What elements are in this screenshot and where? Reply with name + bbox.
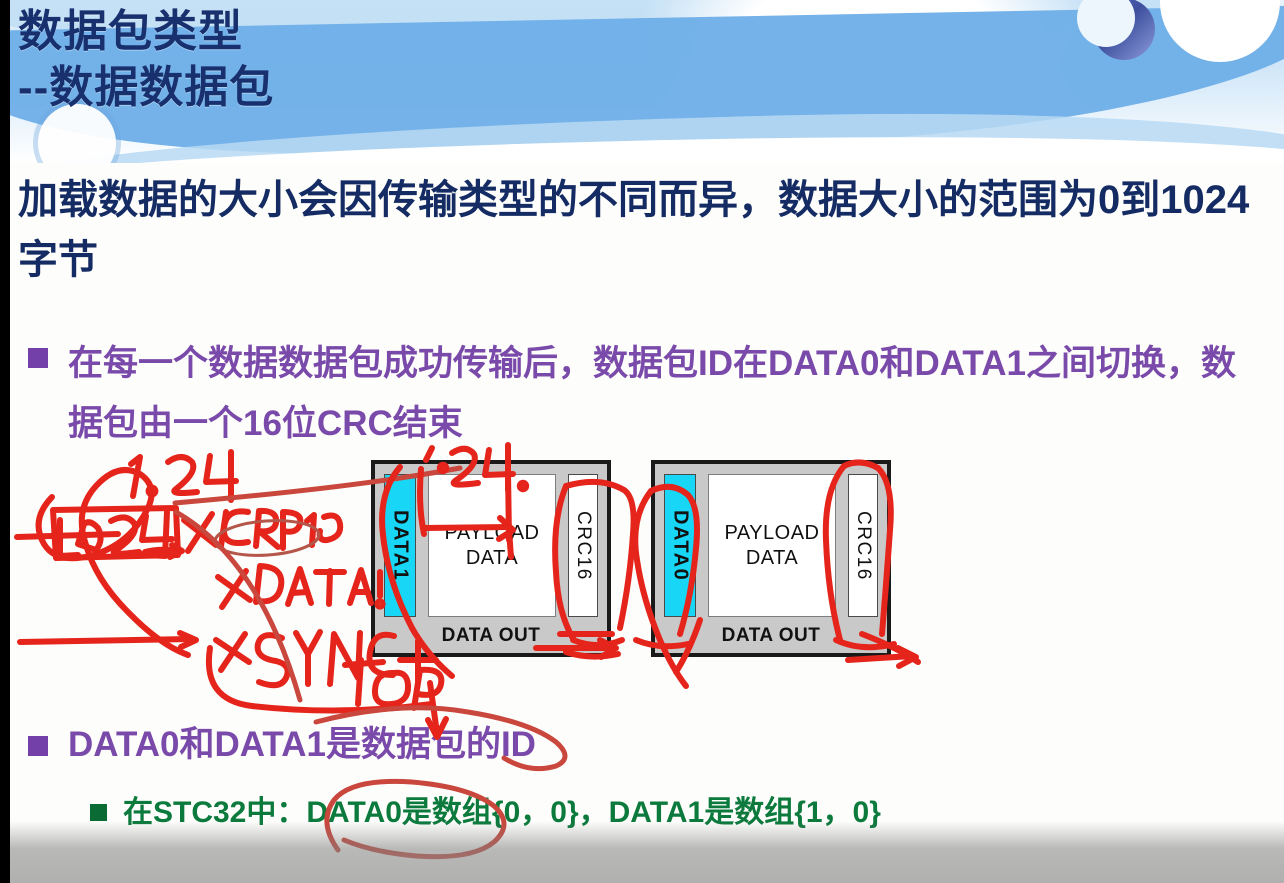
packet-payload-label: PAYLOAD DATA [429,521,555,571]
square-bullet-icon [28,348,48,368]
note-arrow-to-crc-ink [145,545,182,557]
page-title: 数据包类型 --数据数据包 [18,4,274,116]
slide-root: 数据包类型 --数据数据包 加载数据的大小会因传输类型的不同而异，数据大小的范围… [0,0,1284,883]
square-bullet-icon [28,736,48,756]
packet-payload-label: PAYLOAD DATA [709,521,835,571]
packet-crc-label: CRC16 [572,511,594,581]
packet-footer: DATA OUT [655,619,887,653]
packet-crc-field: CRC16 [848,474,878,617]
bullet-item-label: 在每一个数据数据包成功传输后，数据包ID在DATA0和DATA1之间切换，数据包… [68,334,1268,454]
packet-payload-field: PAYLOAD DATA [428,474,556,617]
packet-footer-label: DATA OUT [442,625,541,647]
packet-diagram-row: DATA0 PAYLOAD DATA CRC16 [655,464,887,619]
lead-paragraph: 加载数据的大小会因传输类型的不同而异，数据大小的范围为0到1024字节 [18,170,1268,290]
packet-payload-field: PAYLOAD DATA [708,474,836,617]
packet-footer: DATA OUT [375,619,607,653]
packet-diagram-data1: DATA1 PAYLOAD DATA CRC16 DATA OUT [371,460,611,657]
note-eop-ink [345,660,441,708]
bullet-item-packet-id: 在每一个数据数据包成功传输后，数据包ID在DATA0和DATA1之间切换，数据包… [28,334,1268,454]
note-crc16-ink [184,511,340,551]
note-strikes-ink [17,534,196,647]
packet-id-label: DATA1 [389,510,412,581]
note-1024-top-ink [131,452,236,500]
note-data-ink [218,566,383,607]
page-title-line-2: --数据数据包 [18,60,274,116]
bottom-gradient-overlay [0,821,1284,883]
packet-id-label: DATA0 [669,510,692,581]
note-crc-loop-ink [214,517,320,558]
letterbox-left-bar [0,0,10,883]
page-title-line-1: 数据包类型 [18,4,274,60]
bullet-item-label: DATA0和DATA1是数据包的ID [68,722,536,768]
packet-crc-label: CRC16 [852,511,874,581]
packet-id-field: DATA0 [664,474,696,617]
packet-diagram-row: DATA1 PAYLOAD DATA CRC16 [375,464,607,619]
bullet-item-data-ids: DATA0和DATA1是数据包的ID [28,722,1268,768]
note-1024-boxed-ink [53,508,178,558]
packet-crc-field: CRC16 [568,474,598,617]
packet-diagram-data0: DATA0 PAYLOAD DATA CRC16 DATA OUT [651,460,891,657]
packet-footer-label: DATA OUT [722,625,821,647]
crescent-moon-icon [1093,0,1155,60]
square-bullet-icon [90,804,107,821]
packet-id-field: DATA1 [384,474,416,617]
note-underline-ink [209,648,432,711]
